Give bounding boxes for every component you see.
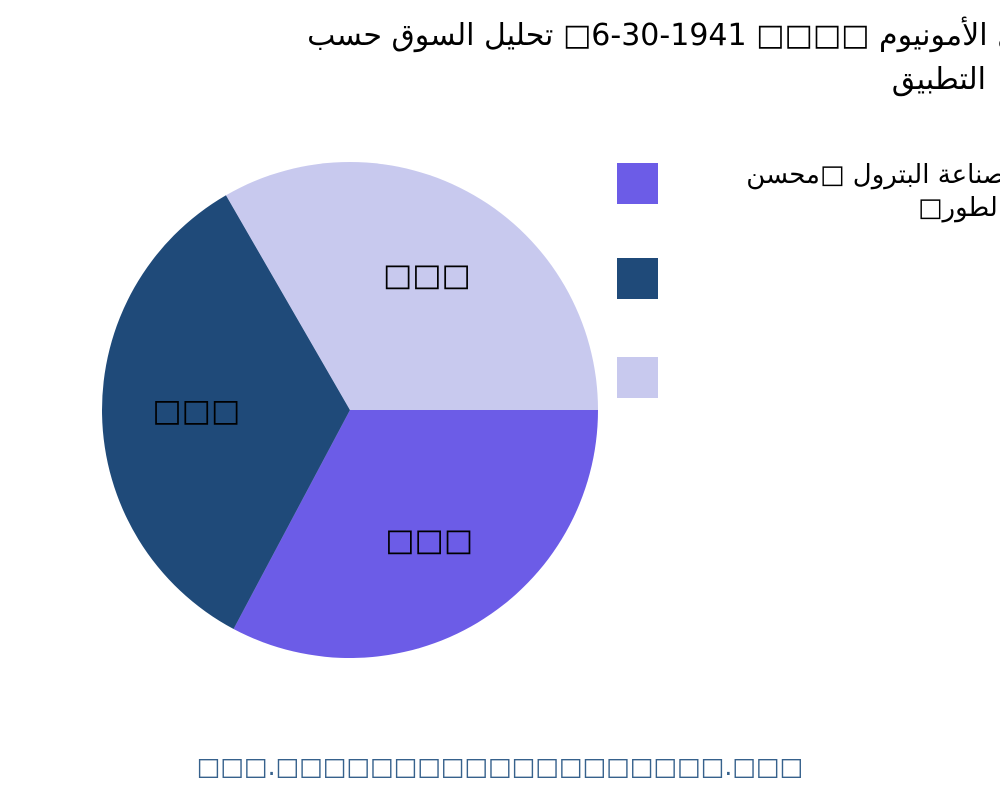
pie-slice-label-chemical-2: □□□ — [383, 257, 471, 293]
pie-chart: □□□ □□□ □□□ — [102, 162, 598, 658]
chart-title-line-1: رباعي بروبيل الأمونيوم □□□□ 1941-30-6□ ت… — [14, 14, 1000, 58]
legend-swatch-petroleum — [617, 163, 658, 204]
legend-label-petroleum: صناعة البترول □محسن الطور□ — [675, 159, 1000, 225]
chart-title-line-2: التطبيق — [14, 58, 986, 102]
chart-canvas: رباعي بروبيل الأمونيوم □□□□ 1941-30-6□ ت… — [0, 0, 1000, 800]
pie-slice-label-chemical-1: □□□ — [152, 393, 240, 429]
chart-title: رباعي بروبيل الأمونيوم □□□□ 1941-30-6□ ت… — [0, 14, 1000, 102]
legend-label-chemical-1: الصناعة الكيميائية — [675, 254, 1000, 287]
legend-swatch-chemical-2 — [617, 357, 658, 398]
source-watermark: □□□.□□□□□□□□□□□□□□□□□□□.□□□ — [0, 752, 1000, 781]
pie-slice-label-petroleum: □□□ — [385, 522, 473, 558]
pie-chart-svg: □□□ □□□ □□□ — [102, 162, 598, 658]
legend-swatch-chemical-1 — [617, 258, 658, 299]
legend-label-chemical-2: الصناعة الكيميائية — [675, 353, 1000, 386]
